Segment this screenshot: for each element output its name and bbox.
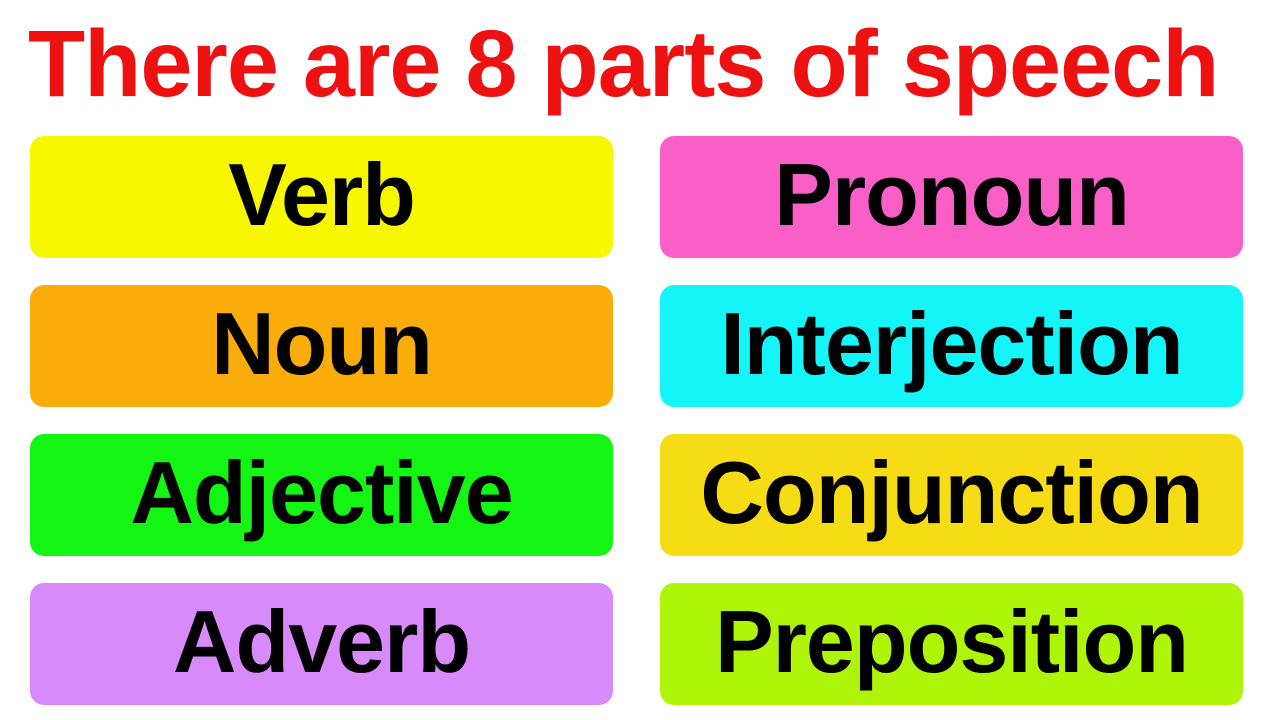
parts-of-speech-poster: There are 8 parts of speech Verb Pronoun… bbox=[0, 0, 1280, 720]
card-label-pronoun: Pronoun bbox=[774, 151, 1129, 239]
card-label-interjection: Interjection bbox=[720, 300, 1182, 388]
card-label-adjective: Adjective bbox=[130, 449, 512, 537]
card-adverb[interactable]: Adverb bbox=[30, 583, 613, 705]
card-conjunction[interactable]: Conjunction bbox=[660, 434, 1243, 556]
parts-of-speech-grid: Verb Pronoun Noun Interjection Adjective… bbox=[30, 136, 1243, 704]
card-noun[interactable]: Noun bbox=[30, 285, 613, 407]
card-preposition[interactable]: Preposition bbox=[660, 583, 1243, 705]
card-label-verb: Verb bbox=[228, 151, 415, 239]
card-adjective[interactable]: Adjective bbox=[30, 434, 613, 556]
card-interjection[interactable]: Interjection bbox=[660, 285, 1243, 407]
card-label-noun: Noun bbox=[211, 300, 432, 388]
card-label-adverb: Adverb bbox=[173, 598, 470, 686]
card-pronoun[interactable]: Pronoun bbox=[660, 136, 1243, 258]
page-title: There are 8 parts of speech bbox=[28, 8, 1226, 120]
card-label-preposition: Preposition bbox=[715, 598, 1188, 686]
card-label-conjunction: Conjunction bbox=[700, 449, 1202, 537]
card-verb[interactable]: Verb bbox=[30, 136, 613, 258]
